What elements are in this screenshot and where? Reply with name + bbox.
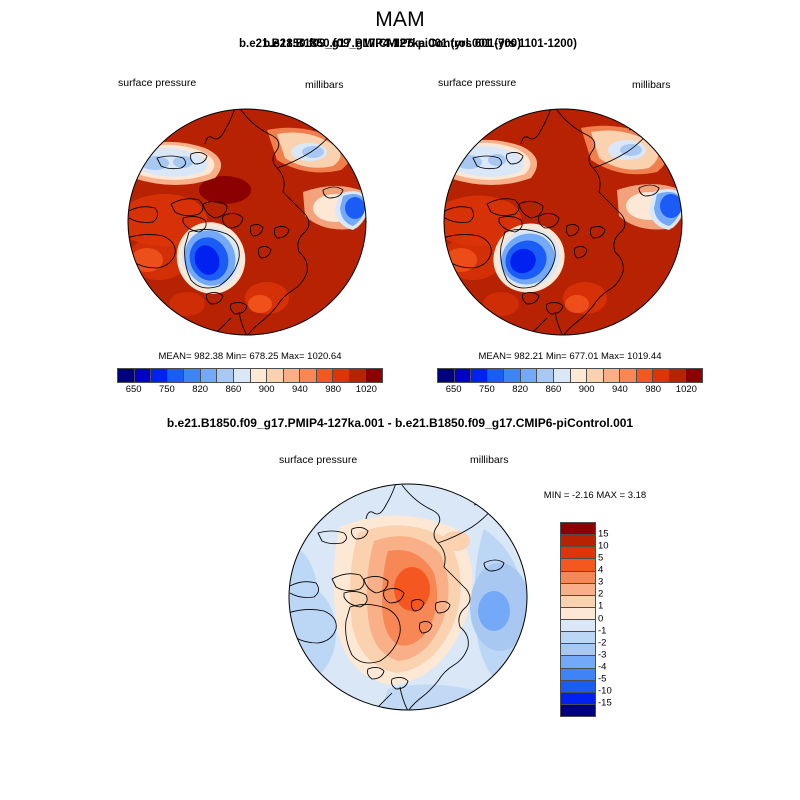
right-panel-colorbar-ticks: 6507508208609009409801020 <box>437 383 703 397</box>
colorbar-swatch <box>350 369 367 382</box>
colorbar-tick-label: -15 <box>598 697 612 708</box>
colorbar-swatch <box>151 369 168 382</box>
right-panel-polar-map <box>443 108 683 336</box>
colorbar-tick-label: -10 <box>598 685 612 696</box>
colorbar-swatch <box>168 369 185 382</box>
colorbar-swatch <box>620 369 637 382</box>
colorbar-swatch <box>561 693 595 705</box>
colorbar-tick-label: 750 <box>159 384 175 395</box>
colorbar-swatch <box>333 369 350 382</box>
colorbar-tick-label: 2 <box>598 589 603 600</box>
right-panel-colorbar: 6507508208609009409801020 <box>437 368 703 397</box>
colorbar-tick-label: 860 <box>225 384 241 395</box>
colorbar-tick-label: 1020 <box>356 384 377 395</box>
colorbar-tick-label: 4 <box>598 565 603 576</box>
colorbar-swatch <box>561 705 595 716</box>
colorbar-swatch <box>366 369 382 382</box>
colorbar-tick-label: 980 <box>645 384 661 395</box>
left-panel-variable-label: surface pressure <box>118 77 196 89</box>
colorbar-tick-label: 820 <box>192 384 208 395</box>
colorbar-tick-label: -4 <box>598 661 606 672</box>
colorbar-swatch <box>561 535 595 547</box>
colorbar-swatch <box>251 369 268 382</box>
colorbar-tick-label: 650 <box>446 384 462 395</box>
difference-panel-colorbar-ticks: 1510543210-1-2-3-4-5-10-15 <box>598 522 638 715</box>
colorbar-swatch <box>537 369 554 382</box>
colorbar-swatch <box>234 369 251 382</box>
colorbar-swatch <box>561 596 595 608</box>
colorbar-swatch <box>554 369 571 382</box>
difference-panel-unit-label: millibars <box>470 454 509 466</box>
difference-panel-polar-map <box>288 483 528 711</box>
colorbar-tick-label: 940 <box>292 384 308 395</box>
left-panel-polar-map <box>127 108 367 336</box>
colorbar-swatch <box>561 584 595 596</box>
colorbar-swatch <box>561 669 595 681</box>
colorbar-tick-label: -5 <box>598 673 606 684</box>
colorbar-swatch <box>561 608 595 620</box>
right-panel-case-title: b.e21.B1850.f09_g17.CMIP6-piControl.001 … <box>40 38 800 50</box>
colorbar-swatch <box>521 369 538 382</box>
colorbar-swatch <box>561 523 595 535</box>
colorbar-tick-label: -2 <box>598 637 606 648</box>
colorbar-tick-label: 15 <box>598 529 609 540</box>
colorbar-swatch <box>561 572 595 584</box>
colorbar-swatch <box>438 369 455 382</box>
colorbar-swatch <box>653 369 670 382</box>
colorbar-swatch <box>317 369 334 382</box>
colorbar-tick-label: 3 <box>598 577 603 588</box>
left-panel-colorbar-ticks: 6507508208609009409801020 <box>117 383 383 397</box>
colorbar-tick-label: 860 <box>545 384 561 395</box>
colorbar-swatch <box>561 620 595 632</box>
colorbar-swatch <box>267 369 284 382</box>
colorbar-swatch <box>184 369 201 382</box>
colorbar-swatch <box>571 369 588 382</box>
difference-panel-colorbar-swatches <box>560 522 596 717</box>
colorbar-tick-label: 10 <box>598 541 609 552</box>
difference-panel-case-title: b.e21.B1850.f09_g17.PMIP4-127ka.001 - b.… <box>0 416 800 430</box>
colorbar-tick-label: 980 <box>325 384 341 395</box>
left-panel-colorbar-swatches <box>117 368 383 383</box>
colorbar-swatch <box>561 644 595 656</box>
colorbar-tick-label: 5 <box>598 553 603 564</box>
colorbar-swatch <box>300 369 317 382</box>
colorbar-swatch <box>637 369 654 382</box>
colorbar-swatch <box>488 369 505 382</box>
left-panel-colorbar: 6507508208609009409801020 <box>117 368 383 397</box>
right-panel-colorbar-swatches <box>437 368 703 383</box>
colorbar-swatch <box>504 369 521 382</box>
colorbar-tick-label: -1 <box>598 625 606 636</box>
colorbar-tick-label: 0 <box>598 613 603 624</box>
colorbar-swatch <box>670 369 687 382</box>
left-panel-unit-label: millibars <box>305 79 344 91</box>
right-panel-variable-label: surface pressure <box>438 77 516 89</box>
colorbar-swatch <box>201 369 218 382</box>
colorbar-swatch <box>604 369 621 382</box>
colorbar-tick-label: 900 <box>579 384 595 395</box>
colorbar-tick-label: 900 <box>259 384 275 395</box>
colorbar-swatch <box>455 369 472 382</box>
difference-panel-variable-label: surface pressure <box>279 454 357 466</box>
colorbar-swatch <box>561 547 595 559</box>
figure-title: MAM <box>0 8 800 32</box>
colorbar-tick-label: -3 <box>598 649 606 660</box>
colorbar-tick-label: 1 <box>598 601 603 612</box>
colorbar-tick-label: 940 <box>612 384 628 395</box>
colorbar-swatch <box>135 369 152 382</box>
colorbar-swatch <box>561 559 595 571</box>
colorbar-tick-label: 1020 <box>676 384 697 395</box>
colorbar-swatch <box>686 369 702 382</box>
colorbar-swatch <box>561 681 595 693</box>
colorbar-swatch <box>284 369 301 382</box>
colorbar-swatch <box>217 369 234 382</box>
colorbar-tick-label: 650 <box>126 384 142 395</box>
right-panel-stats: MEAN= 982.21 Min= 677.01 Max= 1019.44 <box>430 351 710 362</box>
colorbar-swatch <box>118 369 135 382</box>
difference-panel-minmax: MIN = -2.16 MAX = 3.18 <box>505 490 685 501</box>
colorbar-swatch <box>561 632 595 644</box>
colorbar-tick-label: 750 <box>479 384 495 395</box>
right-panel-unit-label: millibars <box>632 79 671 91</box>
colorbar-swatch <box>561 656 595 668</box>
colorbar-tick-label: 820 <box>512 384 528 395</box>
difference-panel-colorbar: 1510543210-1-2-3-4-5-10-15 <box>560 522 596 715</box>
colorbar-swatch <box>471 369 488 382</box>
colorbar-swatch <box>587 369 604 382</box>
left-panel-stats: MEAN= 982.38 Min= 678.25 Max= 1020.64 <box>110 351 390 362</box>
